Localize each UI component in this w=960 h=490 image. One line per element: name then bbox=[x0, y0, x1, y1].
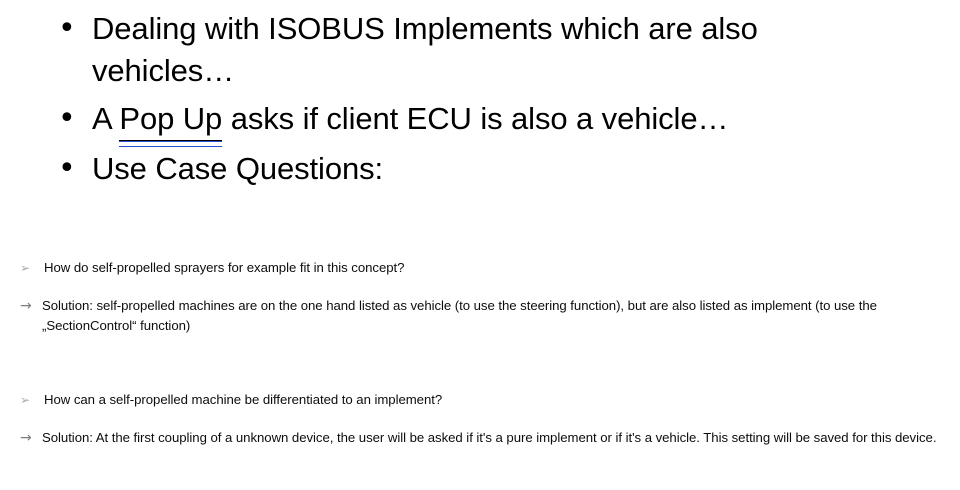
main-bullet-text-2-prefix: A bbox=[92, 101, 119, 136]
main-bullet-text-2-suffix: asks if client ECU is also a vehicle… bbox=[222, 101, 728, 136]
qa-block-question-1: ➢ How do self-propelled sprayers for exa… bbox=[0, 258, 960, 278]
main-bullet-item-2: • A Pop Up asks if client ECU is also a … bbox=[0, 98, 960, 142]
presentation-slide: • Dealing with ISOBUS Implements which a… bbox=[0, 0, 960, 490]
bullet-dot-icon: • bbox=[58, 148, 92, 190]
qa-block-question-2: ➢ How can a self-propelled machine be di… bbox=[0, 390, 960, 410]
main-bullet-text-3: Use Case Questions: bbox=[92, 148, 792, 190]
qa-block-solution-2: → Solution: At the first coupling of a u… bbox=[0, 428, 960, 448]
solution-text-1: Solution: self-propelled machines are on… bbox=[42, 296, 954, 336]
solution-text-2: Solution: At the first coupling of a unk… bbox=[42, 428, 954, 448]
chevron-right-bullet-icon: ➢ bbox=[20, 258, 44, 278]
main-bullet-text-1: Dealing with ISOBUS Implements which are… bbox=[92, 8, 792, 92]
question-text-1: How do self-propelled sprayers for examp… bbox=[44, 258, 949, 278]
qa-row: → Solution: At the first coupling of a u… bbox=[0, 428, 960, 448]
main-bullet-text-2: A Pop Up asks if client ECU is also a ve… bbox=[92, 98, 792, 142]
question-text-2: How can a self-propelled machine be diff… bbox=[44, 390, 949, 410]
arrow-right-bullet-icon: → bbox=[20, 296, 42, 316]
bullet-dot-icon: • bbox=[58, 98, 92, 140]
chevron-right-bullet-icon: ➢ bbox=[20, 390, 44, 410]
bullet-dot-icon: • bbox=[58, 8, 92, 50]
main-bullet-item-1: • Dealing with ISOBUS Implements which a… bbox=[0, 8, 960, 92]
main-bullet-list: • Dealing with ISOBUS Implements which a… bbox=[0, 8, 960, 196]
main-bullet-item-3: • Use Case Questions: bbox=[0, 148, 960, 190]
qa-row: → Solution: self-propelled machines are … bbox=[0, 296, 960, 336]
qa-row: ➢ How do self-propelled sprayers for exa… bbox=[0, 258, 960, 278]
pop-up-link[interactable]: Pop Up bbox=[119, 98, 222, 142]
qa-row: ➢ How can a self-propelled machine be di… bbox=[0, 390, 960, 410]
arrow-right-bullet-icon: → bbox=[20, 428, 42, 448]
qa-block-solution-1: → Solution: self-propelled machines are … bbox=[0, 296, 960, 336]
